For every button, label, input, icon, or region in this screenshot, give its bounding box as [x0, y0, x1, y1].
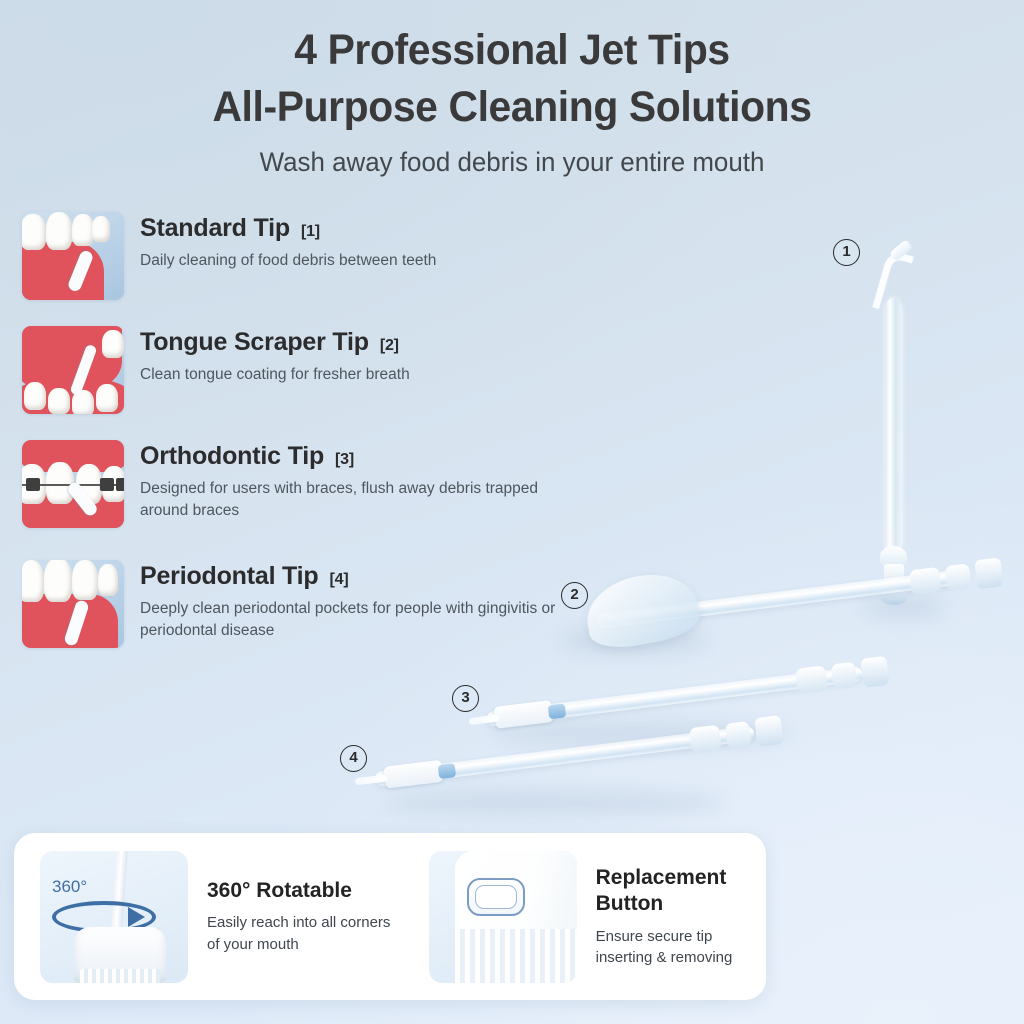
card-description: Ensure secure tip inserting & removing	[596, 926, 766, 969]
page-title: 4 Professional Jet Tips All-Purpose Clea…	[26, 22, 999, 136]
orthodontic-tip-thumbnail	[22, 440, 124, 528]
card-title-line-1: Replacement	[596, 866, 727, 889]
title-line-1: 4 Professional Jet Tips	[294, 26, 729, 74]
device-ribs	[80, 969, 160, 983]
tip-ring	[881, 589, 907, 605]
standard-tip-product	[876, 246, 910, 608]
tip-white-head	[383, 760, 443, 789]
callout-badge-4: 4	[340, 745, 367, 772]
tip-needle	[355, 775, 388, 786]
tip-nose	[889, 239, 913, 262]
callout-badge-3: 3	[452, 685, 479, 712]
feature-item-standard-tip: Standard Tip [1] Daily cleaning of food …	[22, 212, 436, 300]
tongue-scraper-scoop	[581, 567, 703, 653]
card-cell-rotatable: 360° 360° Rotatable Easily reach into al…	[40, 851, 395, 983]
tip-blue-ring	[548, 703, 567, 719]
feature-description: Designed for users with braces, flush aw…	[140, 478, 570, 522]
card-description: Easily reach into all corners of your mo…	[207, 912, 395, 955]
tip-knob	[795, 665, 828, 693]
feature-number: [3]	[335, 451, 354, 469]
bracket	[26, 478, 40, 491]
bracket	[116, 478, 124, 491]
tooth	[22, 560, 44, 602]
gum-shape	[22, 242, 104, 300]
tip-knob-2	[725, 721, 752, 749]
feature-title: Orthodontic Tip [3]	[140, 442, 570, 471]
tip-blue-ring	[438, 763, 457, 779]
tip-endcap	[860, 656, 889, 688]
rotatable-illustration: 360°	[40, 851, 188, 983]
tip-knob-2	[831, 662, 858, 690]
header: 4 Professional Jet Tips All-Purpose Clea…	[0, 22, 1024, 178]
degree-label: 360°	[52, 877, 87, 897]
feature-item-tongue-scraper-tip: Tongue Scraper Tip [2] Clean tongue coat…	[22, 326, 410, 414]
feature-text: Orthodontic Tip [3] Designed for users w…	[140, 440, 570, 522]
tongue-scraper-tip-product	[596, 563, 1013, 614]
page-subtitle: Wash away food debris in your entire mou…	[20, 147, 1003, 178]
tip-white-head	[493, 700, 553, 729]
bottom-feature-card: 360° 360° Rotatable Easily reach into al…	[14, 833, 766, 1000]
card-title: Replacement Button	[596, 865, 766, 918]
tip-rod	[374, 725, 755, 786]
tip-base	[884, 564, 904, 604]
tip-shadow-4	[386, 790, 726, 816]
tooth	[48, 388, 70, 414]
tongue-scraper-tip-thumbnail	[22, 326, 124, 414]
tip-shadow-1	[862, 596, 946, 618]
feature-item-periodontal-tip: Periodontal Tip [4] Deeply clean periodo…	[22, 560, 570, 648]
tip-bend	[872, 250, 914, 315]
tip-endcap	[754, 715, 783, 747]
feature-title-label: Tongue Scraper Tip	[140, 328, 369, 357]
infographic-canvas: 4 Professional Jet Tips All-Purpose Clea…	[0, 0, 1024, 1024]
feature-number: [2]	[380, 337, 399, 355]
feature-description: Deeply clean periodontal pockets for peo…	[140, 598, 570, 642]
tip-rod	[596, 569, 967, 629]
tooth	[46, 462, 74, 504]
callout-badge-1: 1	[833, 239, 860, 266]
tip-shaft	[885, 298, 902, 553]
tip-rod	[486, 666, 863, 727]
card-title: 360° Rotatable	[207, 878, 395, 904]
card-text: Replacement Button Ensure secure tip ins…	[596, 865, 766, 969]
feature-text: Tongue Scraper Tip [2] Clean tongue coat…	[140, 326, 410, 386]
feature-number: [4]	[330, 571, 349, 589]
feature-number: [1]	[301, 223, 320, 241]
orthodontic-tip-product	[486, 660, 913, 712]
tip-knob	[909, 567, 942, 595]
tooth	[72, 214, 94, 246]
card-title-line-2: Button	[596, 892, 664, 915]
feature-description: Clean tongue coating for fresher breath	[140, 364, 410, 386]
tip-collar	[880, 546, 907, 570]
tip-needle	[469, 715, 500, 726]
feature-item-orthodontic-tip: Orthodontic Tip [3] Designed for users w…	[22, 440, 570, 528]
tooth	[92, 216, 110, 242]
tooth	[102, 330, 124, 358]
tip-knob-2	[945, 563, 972, 591]
tooth	[72, 560, 98, 600]
feature-title-label: Orthodontic Tip	[140, 442, 324, 471]
feature-title-label: Standard Tip	[140, 214, 290, 243]
feature-text: Periodontal Tip [4] Deeply clean periodo…	[140, 560, 570, 642]
replacement-button-illustration	[429, 851, 577, 983]
feature-title: Standard Tip [1]	[140, 214, 436, 243]
tooth	[46, 212, 72, 250]
tooth	[22, 214, 46, 250]
feature-description: Daily cleaning of food debris between te…	[140, 250, 436, 272]
tooth	[44, 560, 72, 602]
periodontal-tip-thumbnail	[22, 560, 124, 648]
feature-text: Standard Tip [1] Daily cleaning of food …	[140, 212, 436, 272]
bracket	[100, 478, 114, 491]
tip-shadow-2	[560, 628, 710, 654]
card-cell-replacement-button: Replacement Button Ensure secure tip ins…	[429, 851, 766, 983]
device-ribs	[455, 929, 577, 983]
tip-shadow-3	[492, 722, 792, 746]
tip-knob	[689, 725, 722, 753]
periodontal-tip-product	[374, 720, 801, 772]
tooth	[24, 382, 46, 410]
standard-tip-thumbnail	[22, 212, 124, 300]
feature-title: Periodontal Tip [4]	[140, 562, 570, 591]
card-text: 360° Rotatable Easily reach into all cor…	[207, 878, 395, 955]
tooth	[96, 384, 118, 412]
feature-title-label: Periodontal Tip	[140, 562, 319, 591]
tooth	[98, 564, 118, 596]
title-line-2: All-Purpose Cleaning Solutions	[212, 83, 811, 131]
tip-endcap	[974, 557, 1003, 589]
feature-title: Tongue Scraper Tip [2]	[140, 328, 410, 357]
release-button-inner	[475, 885, 517, 909]
rotation-arrow-icon	[128, 907, 145, 927]
